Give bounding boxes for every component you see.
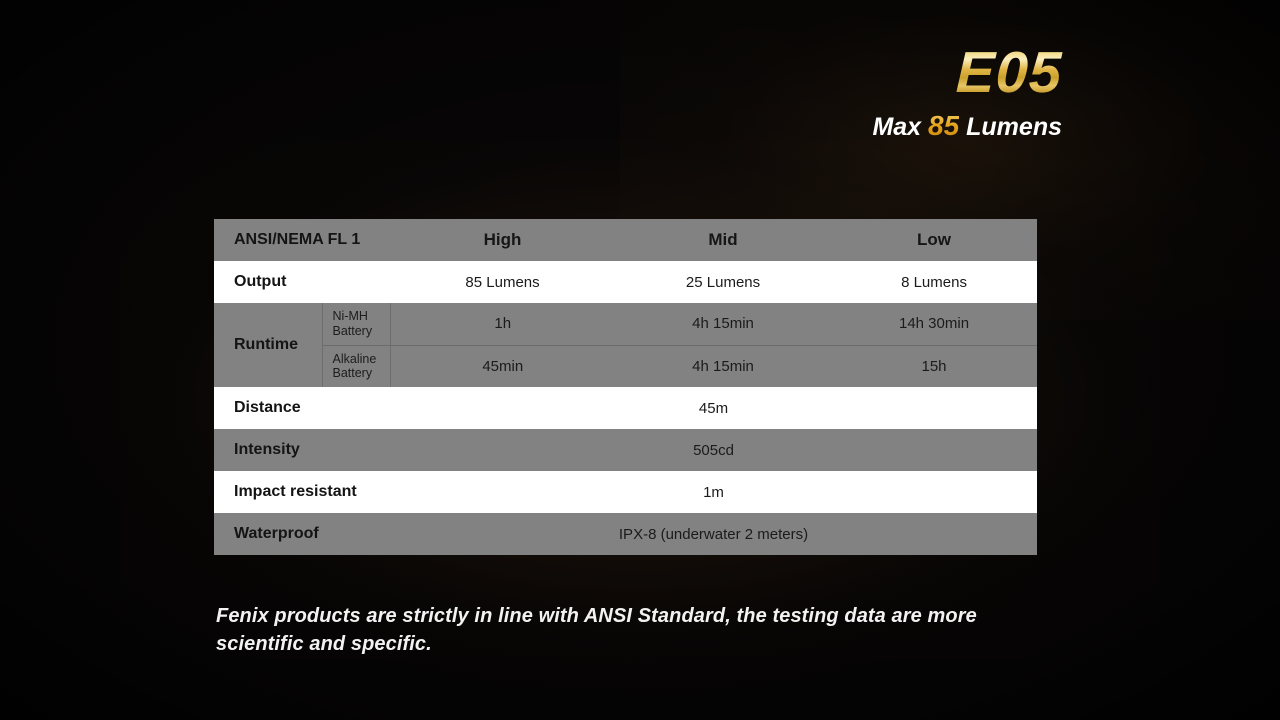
runtime-battery-alkaline-line1: Alkaline [333, 352, 377, 366]
product-model-title: E05 [955, 44, 1063, 102]
row-label-impact-resistant: Impact resistant [214, 471, 390, 513]
runtime-nimh-mid: 4h 15min [615, 303, 831, 345]
table-row-runtime-alkaline: Alkaline Battery 45min 4h 15min 15h [214, 345, 1037, 387]
table-header-row: ANSI/NEMA FL 1 High Mid Low [214, 219, 1037, 261]
distance-value: 45m [390, 387, 1037, 429]
row-label-waterproof: Waterproof [214, 513, 390, 555]
row-label-runtime: Runtime [214, 303, 322, 387]
row-label-intensity: Intensity [214, 429, 390, 471]
row-label-distance: Distance [214, 387, 390, 429]
table-row-output: Output 85 Lumens 25 Lumens 8 Lumens [214, 261, 1037, 303]
table-row-distance: Distance 45m [214, 387, 1037, 429]
output-high: 85 Lumens [390, 261, 615, 303]
runtime-battery-label-nimh: Ni-MH Battery [322, 303, 390, 345]
max-output-suffix: Lumens [966, 113, 1062, 141]
table-row-intensity: Intensity 505cd [214, 429, 1037, 471]
slide-canvas: E05 Max 85 Lumens ANSI/NEMA FL 1 High Mi… [0, 0, 1280, 720]
header-standard-label: ANSI/NEMA FL 1 [214, 219, 390, 261]
runtime-battery-label-alkaline: Alkaline Battery [322, 345, 390, 387]
runtime-nimh-high: 1h [390, 303, 615, 345]
runtime-battery-nimh-line2: Battery [333, 324, 373, 338]
waterproof-value: IPX-8 (underwater 2 meters) [390, 513, 1037, 555]
intensity-value: 505cd [390, 429, 1037, 471]
header-mode-high: High [390, 219, 615, 261]
output-mid: 25 Lumens [615, 261, 831, 303]
runtime-nimh-low: 14h 30min [831, 303, 1037, 345]
row-label-output: Output [214, 261, 390, 303]
header-mode-mid: Mid [615, 219, 831, 261]
runtime-alkaline-mid: 4h 15min [615, 345, 831, 387]
specification-table: ANSI/NEMA FL 1 High Mid Low Output 85 Lu… [214, 219, 1037, 555]
max-output-prefix: Max [872, 113, 921, 141]
runtime-battery-nimh-line1: Ni-MH [333, 309, 368, 323]
product-logo-block: E05 [956, 44, 1062, 102]
max-output-value: 85 [928, 110, 959, 141]
max-output-tagline: Max 85 Lumens [872, 110, 1062, 142]
ansi-standard-note: Fenix products are strictly in line with… [216, 602, 1016, 659]
impact-resistant-value: 1m [390, 471, 1037, 513]
table-row-impact-resistant: Impact resistant 1m [214, 471, 1037, 513]
table-row-waterproof: Waterproof IPX-8 (underwater 2 meters) [214, 513, 1037, 555]
output-low: 8 Lumens [831, 261, 1037, 303]
runtime-alkaline-high: 45min [390, 345, 615, 387]
runtime-alkaline-low: 15h [831, 345, 1037, 387]
table-row-runtime-nimh: Runtime Ni-MH Battery 1h 4h 15min 14h 30… [214, 303, 1037, 345]
header-mode-low: Low [831, 219, 1037, 261]
runtime-battery-alkaline-line2: Battery [333, 366, 373, 380]
